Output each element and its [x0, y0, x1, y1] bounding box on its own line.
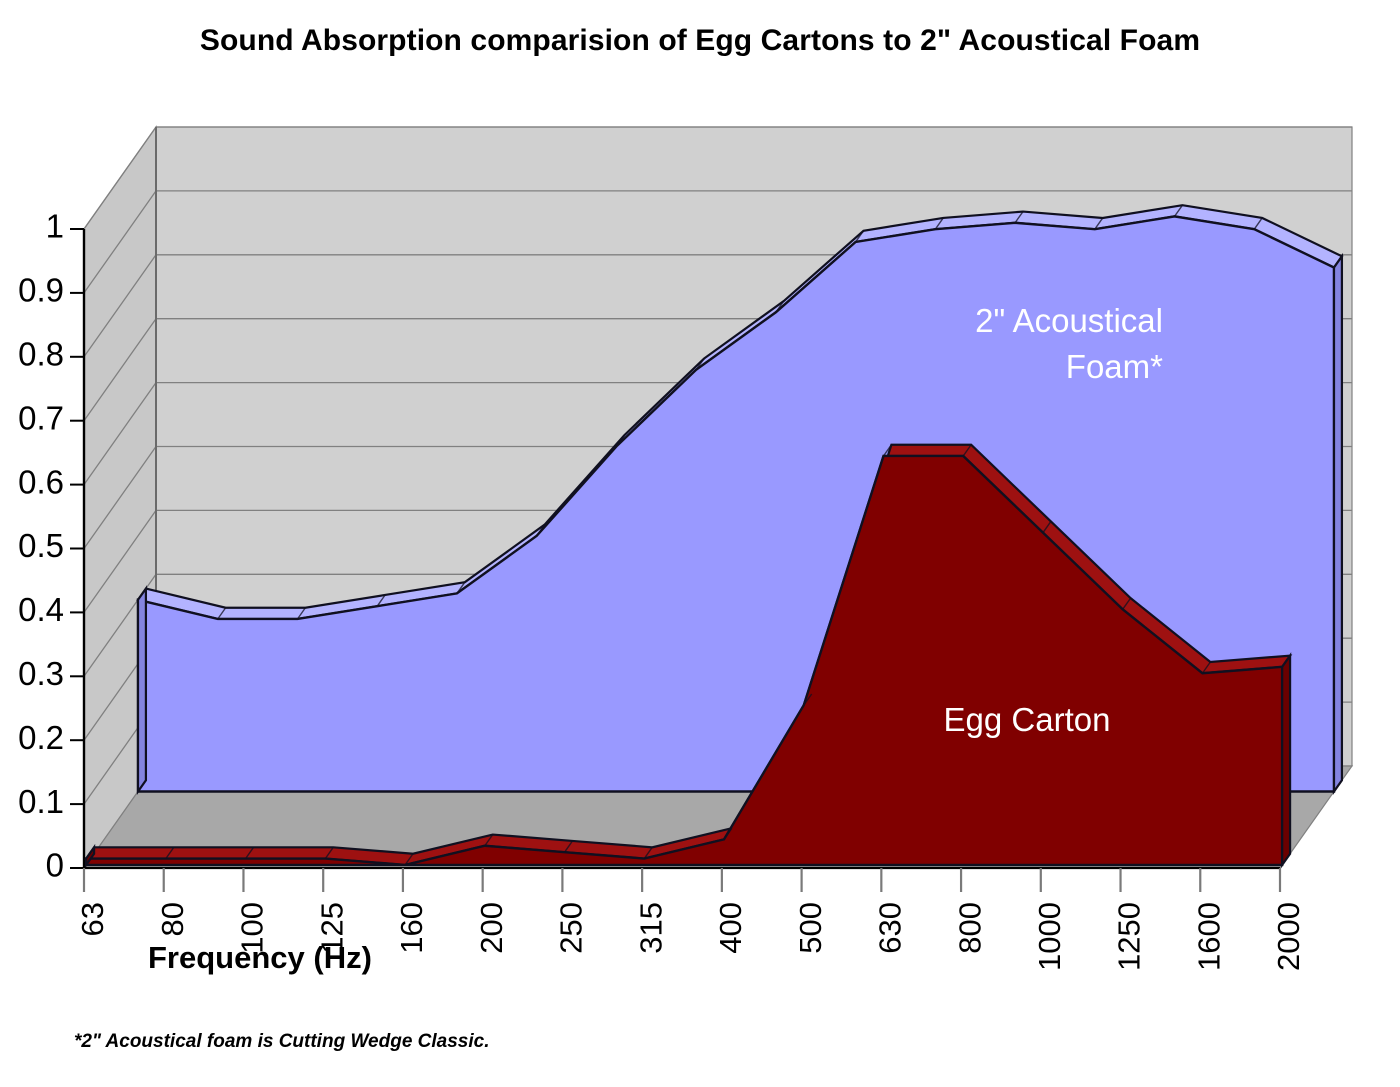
y-tick-label-8: 0.2 [18, 719, 64, 756]
y-tick-label-5: 0.5 [18, 527, 64, 564]
x-tick-label-14: 1600 [1191, 902, 1226, 971]
series-label-egg-carton: Egg Carton [944, 701, 1111, 738]
y-tick-label-9: 0.1 [18, 783, 64, 820]
y-tick-label-10: 0 [46, 847, 64, 884]
series-label-foam-line2: Foam* [1066, 348, 1163, 385]
x-tick-label-9: 500 [793, 902, 828, 954]
x-tick-label-4: 160 [394, 902, 429, 954]
series-egg-carton-right-endcap [1282, 656, 1290, 865]
x-tick-label-7: 315 [633, 902, 668, 954]
y-tick-label-1: 0.9 [18, 272, 64, 309]
chart-footnote: *2" Acoustical foam is Cutting Wedge Cla… [74, 1031, 490, 1053]
x-tick-label-12: 1000 [1032, 902, 1067, 971]
x-tick-label-0: 63 [75, 902, 110, 936]
x-tick-label-10: 630 [873, 902, 908, 954]
x-tick-label-11: 800 [952, 902, 987, 954]
y-tick-label-4: 0.6 [18, 463, 64, 500]
y-tick-label-3: 0.7 [18, 399, 64, 436]
x-tick-label-6: 250 [554, 902, 589, 954]
x-tick-label-1: 80 [155, 902, 190, 936]
x-axis-title: Frequency (Hz) [148, 940, 372, 975]
y-axis: 10.90.80.70.60.50.40.30.20.10 [18, 208, 84, 884]
x-tick-label-8: 400 [713, 902, 748, 954]
series-foam-right-endcap [1334, 256, 1342, 791]
series-label-foam-line1: 2" Acoustical [975, 302, 1163, 339]
x-axis: 6380100125160200250315400500630800100012… [75, 868, 1306, 975]
x-tick-label-13: 1250 [1112, 902, 1147, 971]
y-tick-label-7: 0.3 [18, 655, 64, 692]
sound-absorption-3d-area-chart: 10.90.80.70.60.50.40.30.20.1063801001251… [0, 0, 1400, 1087]
y-tick-label-0: 1 [46, 208, 64, 245]
x-tick-label-5: 200 [474, 902, 509, 954]
chart-container: Sound Absorption comparision of Egg Cart… [0, 0, 1400, 1087]
y-tick-label-6: 0.4 [18, 591, 64, 628]
x-tick-label-15: 2000 [1271, 902, 1306, 971]
series-foam-left-endcap [138, 589, 146, 792]
y-tick-label-2: 0.8 [18, 336, 64, 373]
